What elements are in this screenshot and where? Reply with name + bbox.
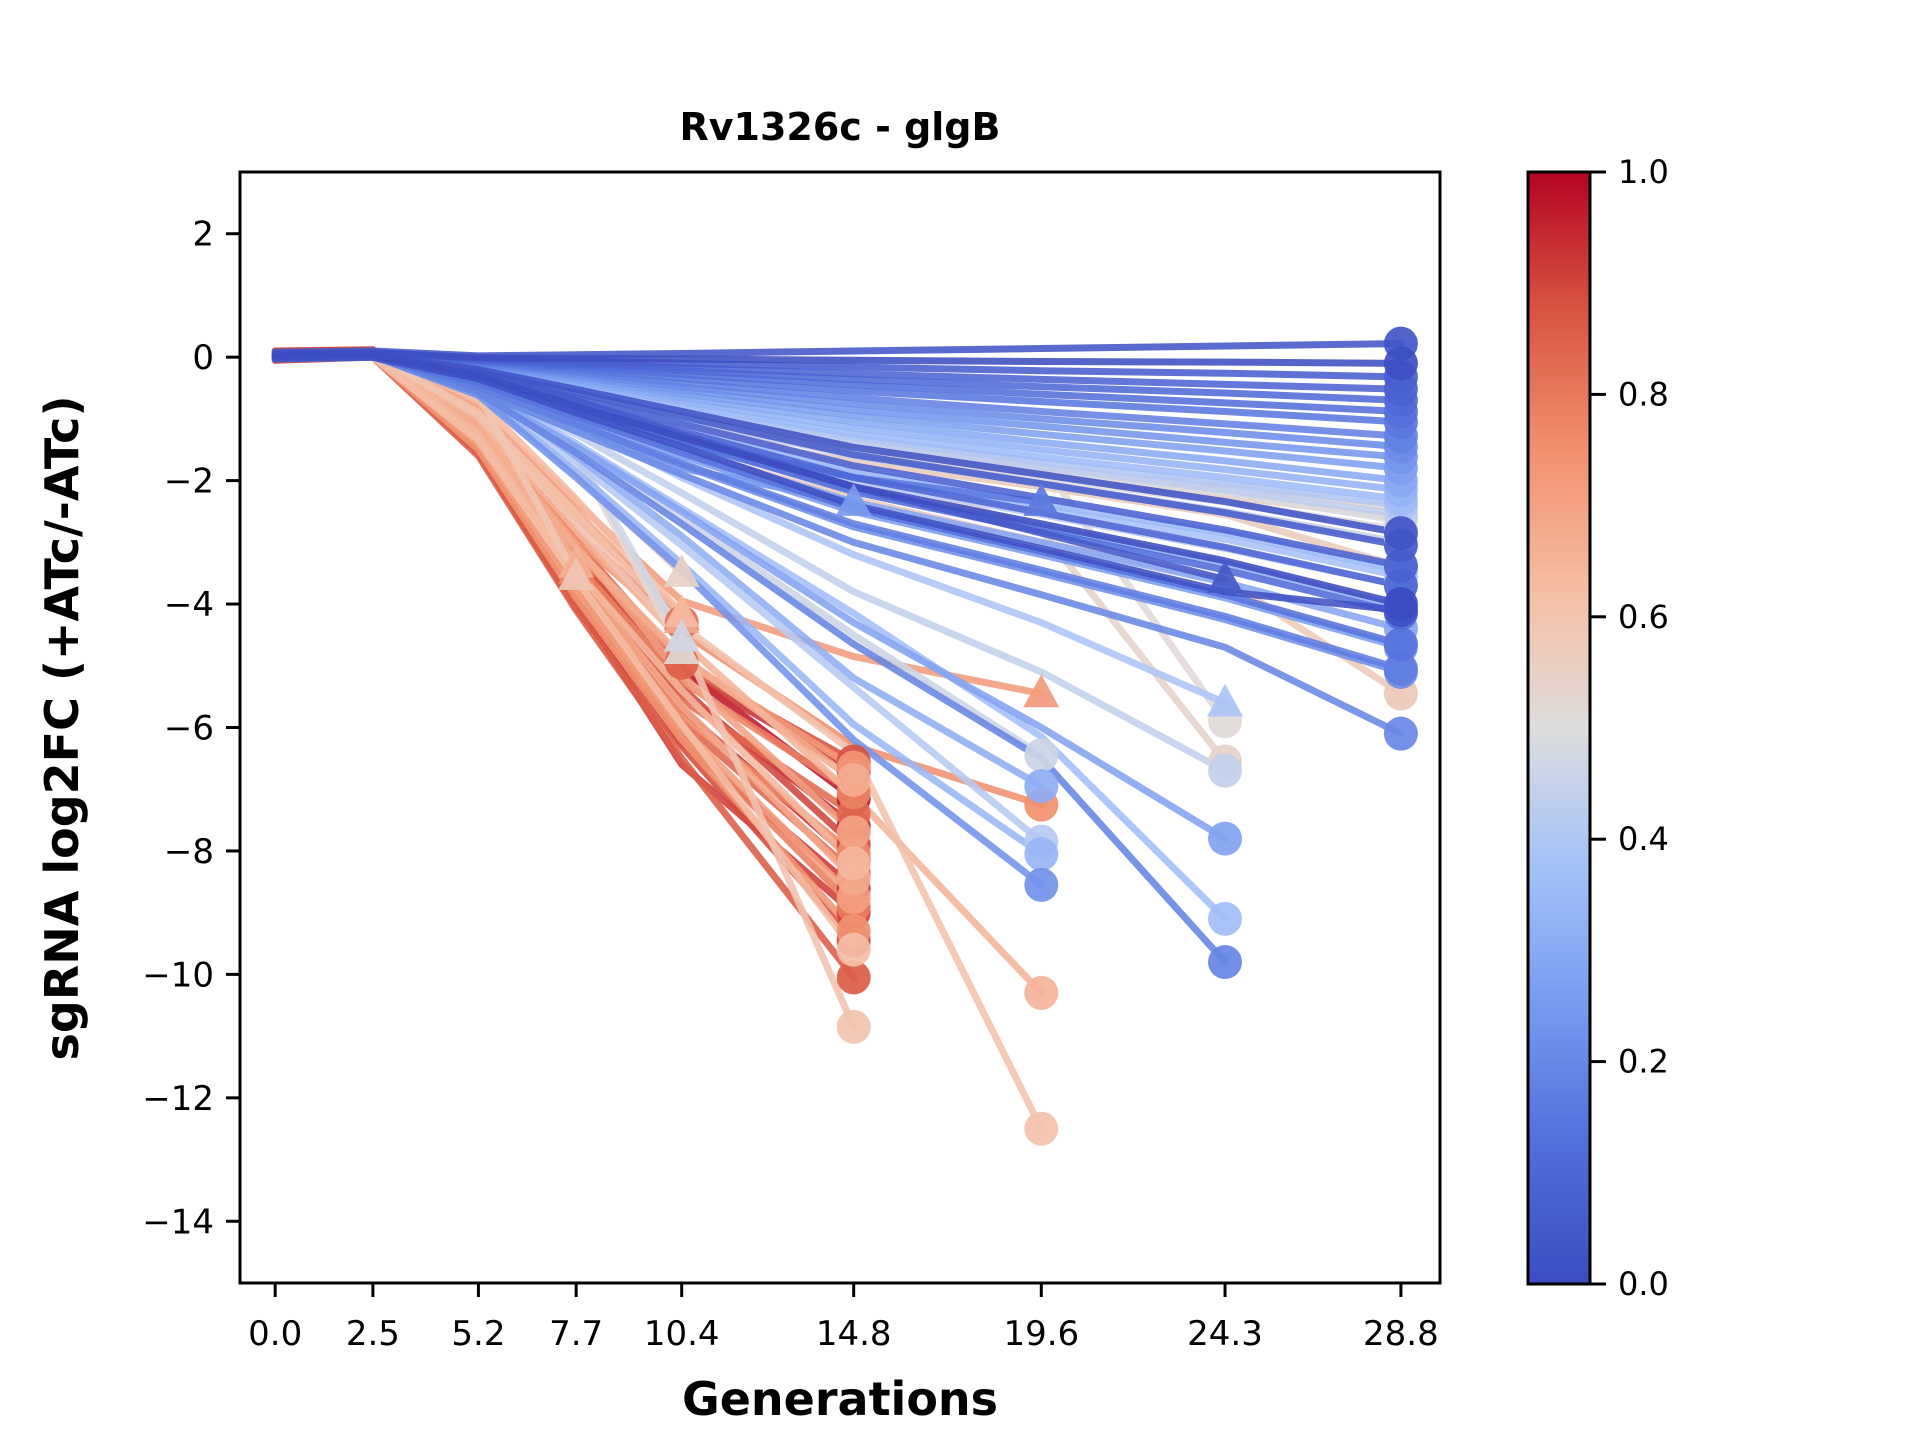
y-tick-label: −4 <box>164 585 214 625</box>
y-tick-label: −12 <box>142 1079 214 1119</box>
series-endpoint-circle-marker <box>1024 837 1058 871</box>
y-tick-label: 2 <box>192 215 214 255</box>
y-tick-label: −8 <box>164 832 214 872</box>
series-endpoint-circle-marker <box>1384 587 1418 621</box>
x-tick-label: 2.5 <box>346 1314 400 1354</box>
x-axis-label: Generations <box>682 1372 998 1426</box>
x-tick-label: 14.8 <box>816 1314 892 1354</box>
series-endpoint-circle-marker <box>1208 754 1242 788</box>
y-axis-label: sgRNA log2FC (+ATc/-ATc) <box>35 396 89 1061</box>
series-endpoint-circle-marker <box>837 763 871 797</box>
series-endpoint-circle-marker <box>1384 346 1418 380</box>
chart-title: Rv1326c - glgB <box>680 105 1001 149</box>
x-tick-label: 28.8 <box>1363 1314 1439 1354</box>
series-endpoint-circle-marker <box>1208 902 1242 936</box>
x-tick-label: 5.2 <box>451 1314 505 1354</box>
chart-figure: Rv1326c - glgB 0.02.55.27.710.414.819.62… <box>0 0 1920 1440</box>
colorbar-tick-label: 0.8 <box>1618 375 1669 413</box>
series-endpoint-circle-marker <box>837 1010 871 1044</box>
colorbar-tick-label: 1.0 <box>1618 153 1669 191</box>
y-tick-label: −10 <box>142 955 214 995</box>
series-endpoint-circle-marker <box>1024 976 1058 1010</box>
series-endpoint-circle-marker <box>837 846 871 880</box>
series-endpoint-circle-marker <box>1208 945 1242 979</box>
colorbar-tick-label: 0.6 <box>1618 598 1669 636</box>
series-endpoint-circle-marker <box>837 815 871 849</box>
x-tick-label: 19.6 <box>1003 1314 1079 1354</box>
y-tick-label: −2 <box>164 462 214 502</box>
x-tick-label: 7.7 <box>549 1314 603 1354</box>
colorbar-gradient <box>1528 172 1590 1284</box>
series-endpoint-circle-marker <box>1024 738 1058 772</box>
series-endpoint-circle-marker <box>1024 769 1058 803</box>
series-endpoint-circle-marker <box>1024 1112 1058 1146</box>
colorbar-tick-label: 0.0 <box>1618 1265 1669 1303</box>
series-endpoint-circle-marker <box>1208 822 1242 856</box>
figure-background <box>0 0 1920 1440</box>
x-tick-label: 10.4 <box>644 1314 720 1354</box>
x-tick-label: 0.0 <box>248 1314 302 1354</box>
y-tick-label: 0 <box>192 338 214 378</box>
chart-canvas: Rv1326c - glgB 0.02.55.27.710.414.819.62… <box>0 0 1920 1440</box>
series-endpoint-circle-marker <box>1384 717 1418 751</box>
y-tick-label: −14 <box>142 1202 214 1242</box>
y-tick-label: −6 <box>164 709 214 749</box>
series-endpoint-circle-marker <box>1024 868 1058 902</box>
series-endpoint-circle-marker <box>1384 516 1418 550</box>
series-endpoint-circle-marker <box>837 933 871 967</box>
colorbar-tick-label: 0.2 <box>1618 1043 1669 1081</box>
colorbar-tick-label: 0.4 <box>1618 820 1669 858</box>
series-endpoint-circle-marker <box>1384 627 1418 661</box>
x-tick-label: 24.3 <box>1187 1314 1263 1354</box>
